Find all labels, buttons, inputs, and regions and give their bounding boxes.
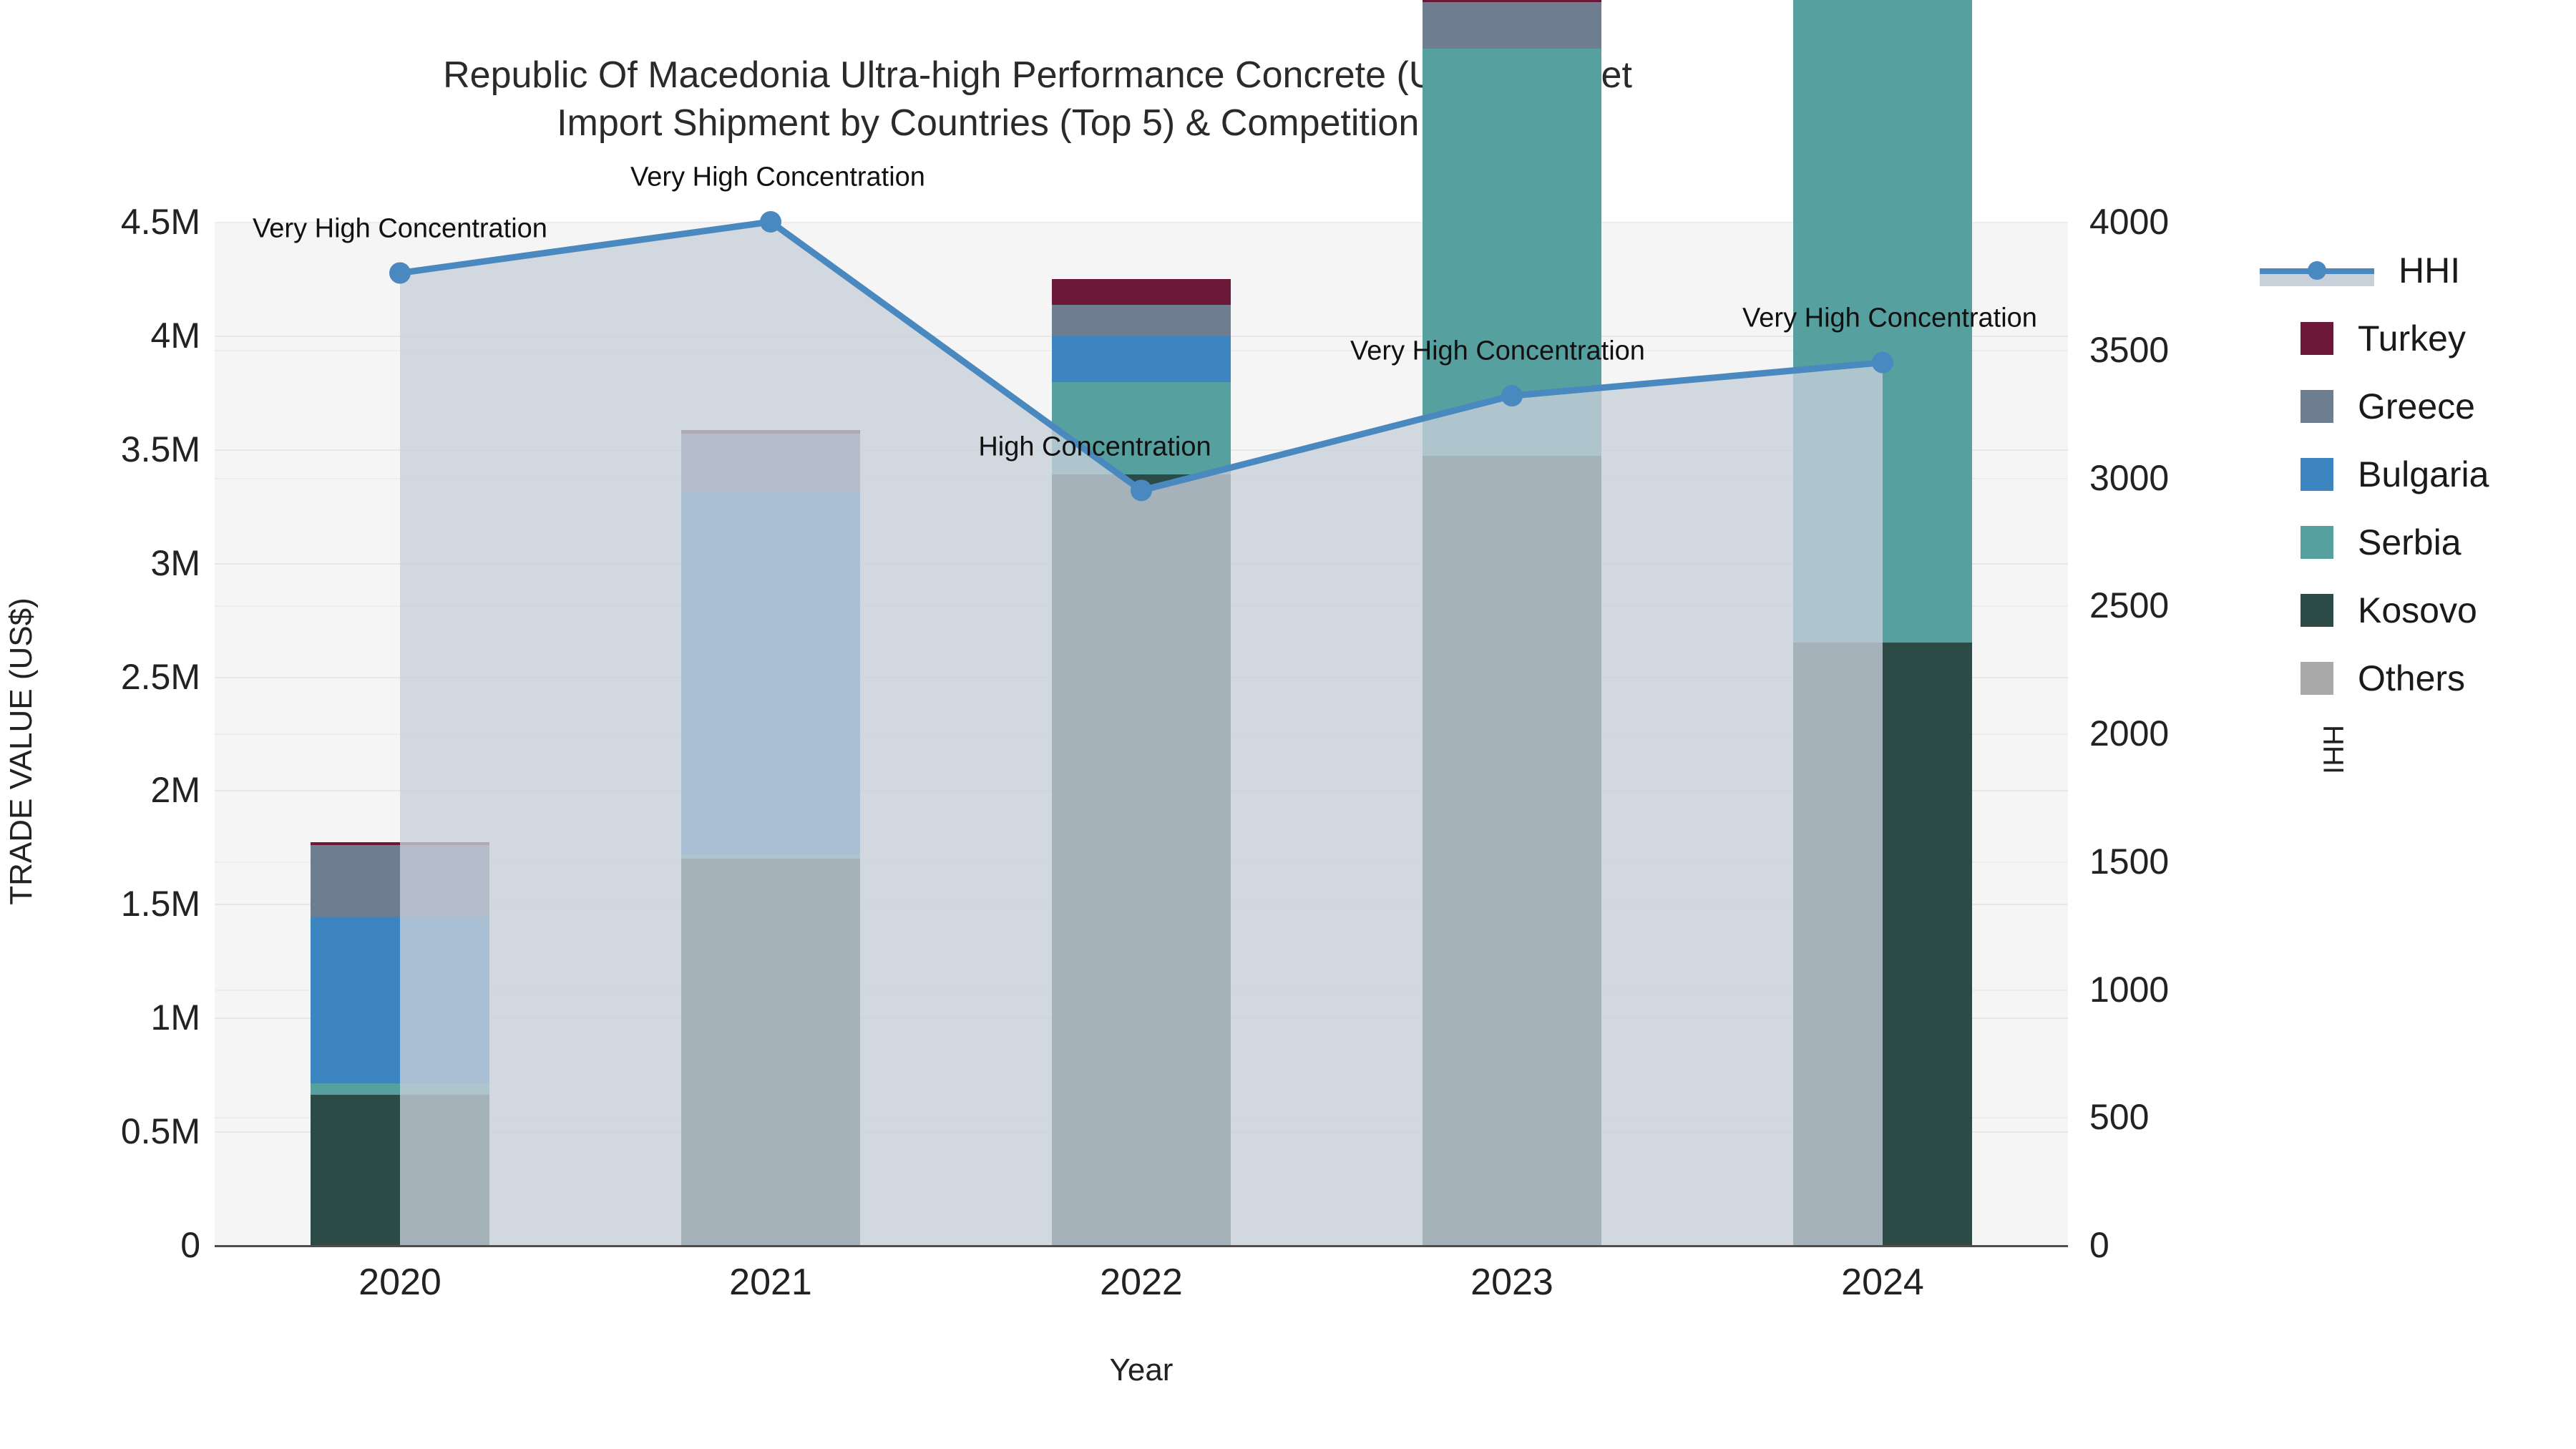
legend: HHITurkeyGreeceBulgariaSerbiaKosovoOther… — [2301, 236, 2572, 712]
x-axis-tick: 2024 — [1740, 1261, 2026, 1304]
y-axis-right-tick: 3500 — [2089, 329, 2304, 371]
legend-color-swatch — [2301, 662, 2333, 695]
legend-label: Bulgaria — [2358, 454, 2489, 495]
bar-segment[interactable] — [1423, 2, 1601, 49]
legend-dot-icon — [2308, 261, 2326, 280]
y-axis-right-tick: 4000 — [2089, 201, 2304, 243]
legend-item[interactable]: Others — [2301, 644, 2572, 712]
legend-label: Serbia — [2358, 522, 2462, 563]
legend-item[interactable]: Bulgaria — [2301, 440, 2572, 508]
y-axis-left-tick: 0 — [0, 1224, 200, 1266]
y-axis-right-tick: 1500 — [2089, 841, 2304, 882]
chart-root: Republic Of Macedonia Ultra-high Perform… — [0, 0, 2576, 1449]
legend-label: Greece — [2358, 386, 2475, 427]
bar-segment[interactable] — [311, 1083, 489, 1095]
legend-color-swatch — [2301, 594, 2333, 627]
x-axis-tick: 2020 — [257, 1261, 543, 1304]
page-title: Republic Of Macedonia Ultra-high Perform… — [0, 52, 2075, 147]
x-axis-tick: 2021 — [628, 1261, 914, 1304]
bar-segment[interactable] — [1423, 456, 1601, 1245]
bar-segment[interactable] — [311, 842, 489, 845]
legend-label: HHI — [2399, 250, 2460, 291]
bar-segment[interactable] — [1052, 279, 1231, 305]
bar-segment[interactable] — [1423, 49, 1601, 456]
x-axis-label: Year — [215, 1352, 2068, 1388]
y-axis-left-tick: 0.5M — [0, 1111, 200, 1152]
legend-color-swatch — [2301, 390, 2333, 423]
y-axis-right-tick: 2000 — [2089, 713, 2304, 754]
x-axis-tick: 2022 — [998, 1261, 1284, 1304]
y-axis-left-tick: 4.5M — [0, 201, 200, 243]
legend-color-swatch — [2301, 458, 2333, 491]
hhi-annotation: Very High Concentration — [1742, 303, 2037, 333]
y-axis-left-label: TRADE VALUE (US$) — [4, 394, 39, 1109]
legend-label: Others — [2358, 658, 2465, 699]
bar-segment[interactable] — [681, 492, 860, 854]
legend-label: Kosovo — [2358, 590, 2477, 631]
legend-label: Turkey — [2358, 318, 2466, 359]
legend-item[interactable]: Turkey — [2301, 304, 2572, 372]
hhi-annotation: Very High Concentration — [1350, 336, 1645, 367]
bar-segment[interactable] — [681, 434, 860, 492]
hhi-annotation: Very High Concentration — [630, 162, 925, 193]
legend-line-marker-icon — [2260, 254, 2374, 287]
hhi-annotation: High Concentration — [978, 432, 1211, 463]
bar-segment[interactable] — [1793, 643, 1972, 1245]
bar-segment[interactable] — [681, 859, 860, 1245]
legend-item[interactable]: Serbia — [2301, 508, 2572, 576]
legend-item[interactable]: Greece — [2301, 372, 2572, 440]
bar-segment[interactable] — [311, 917, 489, 1084]
y-axis-left-tick: 4M — [0, 315, 200, 356]
bar-segment[interactable] — [1052, 305, 1231, 336]
y-axis-right-tick: 0 — [2089, 1224, 2304, 1266]
x-axis-line — [215, 1245, 2068, 1247]
x-axis-tick: 2023 — [1369, 1261, 1655, 1304]
bar-segment[interactable] — [681, 854, 860, 859]
title-line-2: Import Shipment by Countries (Top 5) & C… — [0, 99, 2075, 147]
legend-color-swatch — [2301, 322, 2333, 355]
y-axis-right-tick: 1000 — [2089, 969, 2304, 1010]
legend-item[interactable]: HHI — [2301, 236, 2572, 304]
bar-segment[interactable] — [681, 430, 860, 434]
hhi-annotation: Very High Concentration — [253, 213, 547, 244]
bar-segment[interactable] — [311, 845, 489, 917]
y-axis-right-tick: 2500 — [2089, 585, 2304, 626]
legend-color-swatch — [2301, 526, 2333, 559]
y-axis-right-tick: 3000 — [2089, 457, 2304, 499]
legend-item[interactable]: Kosovo — [2301, 576, 2572, 644]
bar-segment[interactable] — [1052, 474, 1231, 1245]
bar-segment[interactable] — [311, 1095, 489, 1245]
bar-segment[interactable] — [1423, 0, 1601, 2]
bar-segment[interactable] — [1052, 336, 1231, 382]
y-axis-right-tick: 500 — [2089, 1096, 2304, 1138]
